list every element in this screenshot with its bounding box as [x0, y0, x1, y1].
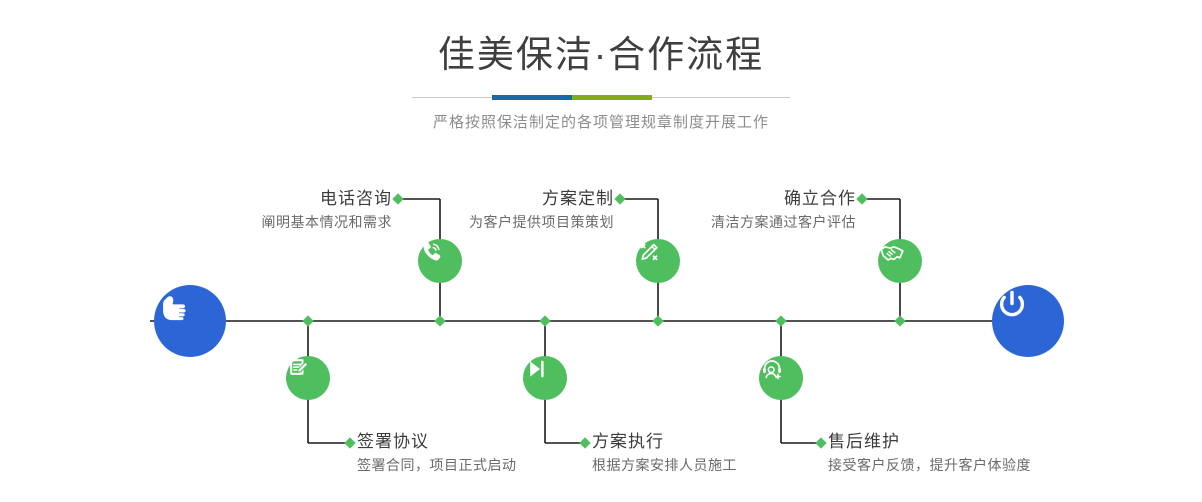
play-execute-icon: [523, 356, 549, 382]
axis-marker-step-5: [894, 315, 905, 326]
axis-marker-step-2: [302, 315, 313, 326]
step-5-icon-circle[interactable]: [878, 239, 922, 283]
pencil-design-icon: [636, 239, 662, 265]
document-edit-icon: [286, 356, 312, 382]
step-1-icon-circle[interactable]: [418, 239, 462, 283]
marker-step-4: [579, 437, 590, 448]
flow-start-endpoint[interactable]: [154, 285, 226, 357]
axis-marker-step-4: [539, 315, 550, 326]
handshake-icon: [878, 239, 906, 267]
step-2-icon-circle[interactable]: [286, 356, 330, 400]
step-2-label: 签署协议 签署合同，项目正式启动: [357, 431, 517, 475]
marker-step-2: [344, 437, 355, 448]
axis-marker-step-6: [775, 315, 786, 326]
axis-marker-step-3: [652, 315, 663, 326]
process-flow-diagram: 电话咨询 阐明基本情况和需求 签署协议 签署合同，项目正式启动: [0, 0, 1202, 502]
phone-call-icon: [418, 239, 444, 265]
step-5-title: 确立合作: [460, 188, 856, 210]
step-4-desc: 根据方案安排人员施工: [592, 455, 737, 475]
marker-step-5: [856, 193, 867, 204]
customer-support-icon: [759, 356, 785, 382]
marker-step-6: [815, 437, 826, 448]
power-icon: [992, 285, 1032, 325]
flow-connectors: [0, 0, 1202, 502]
step-4-label: 方案执行 根据方案安排人员施工: [592, 431, 737, 475]
step-6-title: 售后维护: [828, 431, 1031, 453]
step-2-desc: 签署合同，项目正式启动: [357, 455, 517, 475]
step-5-label: 确立合作 清洁方案通过客户评估: [460, 188, 856, 232]
step-6-icon-circle[interactable]: [759, 356, 803, 400]
pointing-hand-icon: [154, 285, 194, 325]
step-4-title: 方案执行: [592, 431, 737, 453]
axis-marker-step-1: [434, 315, 445, 326]
step-3-icon-circle[interactable]: [636, 239, 680, 283]
step-4-icon-circle[interactable]: [523, 356, 567, 400]
step-6-desc: 接受客户反馈，提升客户体验度: [828, 455, 1031, 475]
flow-end-endpoint[interactable]: [992, 285, 1064, 357]
step-6-label: 售后维护 接受客户反馈，提升客户体验度: [828, 431, 1031, 475]
step-5-desc: 清洁方案通过客户评估: [460, 212, 856, 232]
step-2-title: 签署协议: [357, 431, 517, 453]
cooperation-process-infographic: 佳美保洁·合作流程 严格按照保洁制定的各项管理规章制度开展工作: [0, 0, 1202, 502]
